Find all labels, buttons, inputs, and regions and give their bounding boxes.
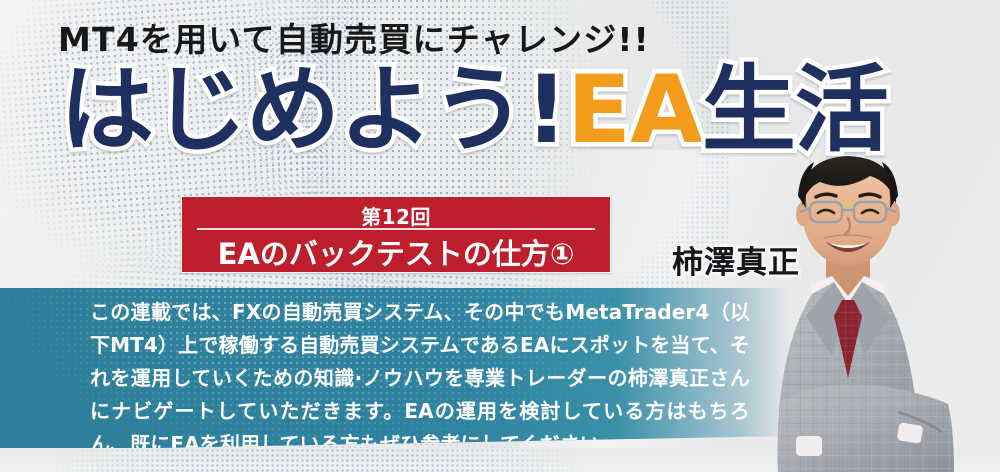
title-part-seikatsu: 生活 bbox=[702, 56, 888, 165]
description-text: この連載では、FXの自動売買システム、その中でもMetaTrader4（以下MT… bbox=[90, 296, 750, 451]
episode-title: EAのバックテストの仕方① bbox=[182, 231, 610, 273]
episode-number: 第12回 bbox=[182, 201, 610, 230]
page-title: はじめよう!EA生活 bbox=[60, 64, 888, 158]
episode-banner: 第12回 EAのバックテストの仕方① bbox=[181, 196, 611, 273]
episode-divider bbox=[197, 228, 595, 230]
title-part-ea: EA bbox=[567, 56, 702, 165]
author-portrait bbox=[748, 150, 1000, 472]
title-part-hajimeyou: はじめよう! bbox=[60, 56, 567, 165]
ea-life-banner: MT4を用いて自動売買にチャレンジ!! はじめよう!EA生活 第12回 EAのバ… bbox=[0, 0, 1000, 472]
description-panel: この連載では、FXの自動売買システム、その中でもMetaTrader4（以下MT… bbox=[0, 288, 790, 451]
tagline: MT4を用いて自動売買にチャレンジ!! bbox=[58, 13, 650, 61]
bottom-dot-texture bbox=[50, 448, 690, 472]
